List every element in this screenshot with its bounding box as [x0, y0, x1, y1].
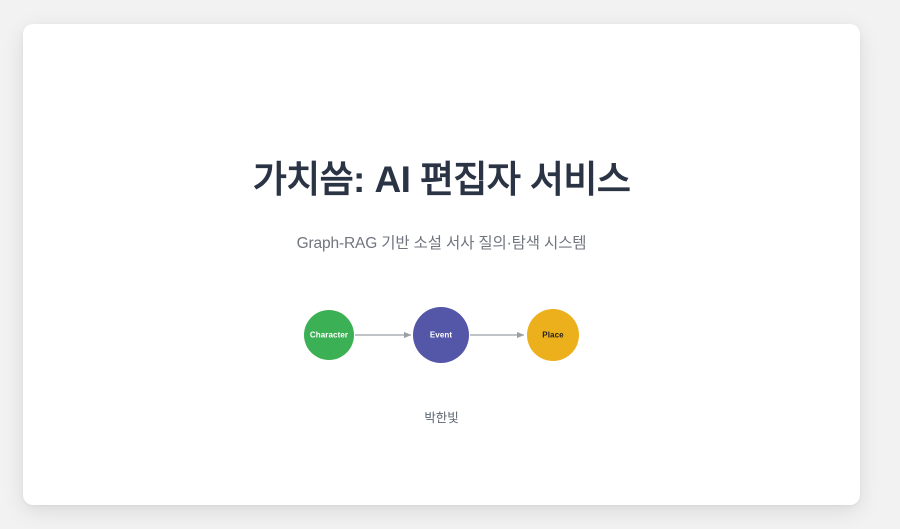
graph-node-character-label: Character [309, 331, 347, 340]
page-subtitle: Graph-RAG 기반 소설 서사 질의·탐색 시스템 [23, 231, 860, 253]
graph-node-character[interactable]: Character [304, 310, 354, 360]
graph-node-place[interactable]: Place [527, 309, 579, 361]
graph-diagram: Character Event Place [23, 302, 860, 368]
graph-node-event-label: Event [429, 331, 452, 340]
graph-diagram-svg: Character Event Place [292, 302, 592, 368]
graph-node-event[interactable]: Event [413, 307, 469, 363]
graph-node-place-label: Place [542, 331, 564, 340]
slide-card: 가치씀: AI 편집자 서비스 Graph-RAG 기반 소설 서사 질의·탐색… [23, 24, 860, 505]
author-name: 박한빛 [23, 407, 860, 426]
page-title: 가치씀: AI 편집자 서비스 [23, 159, 860, 202]
slide-content: 가치씀: AI 편집자 서비스 Graph-RAG 기반 소설 서사 질의·탐색… [23, 24, 860, 505]
